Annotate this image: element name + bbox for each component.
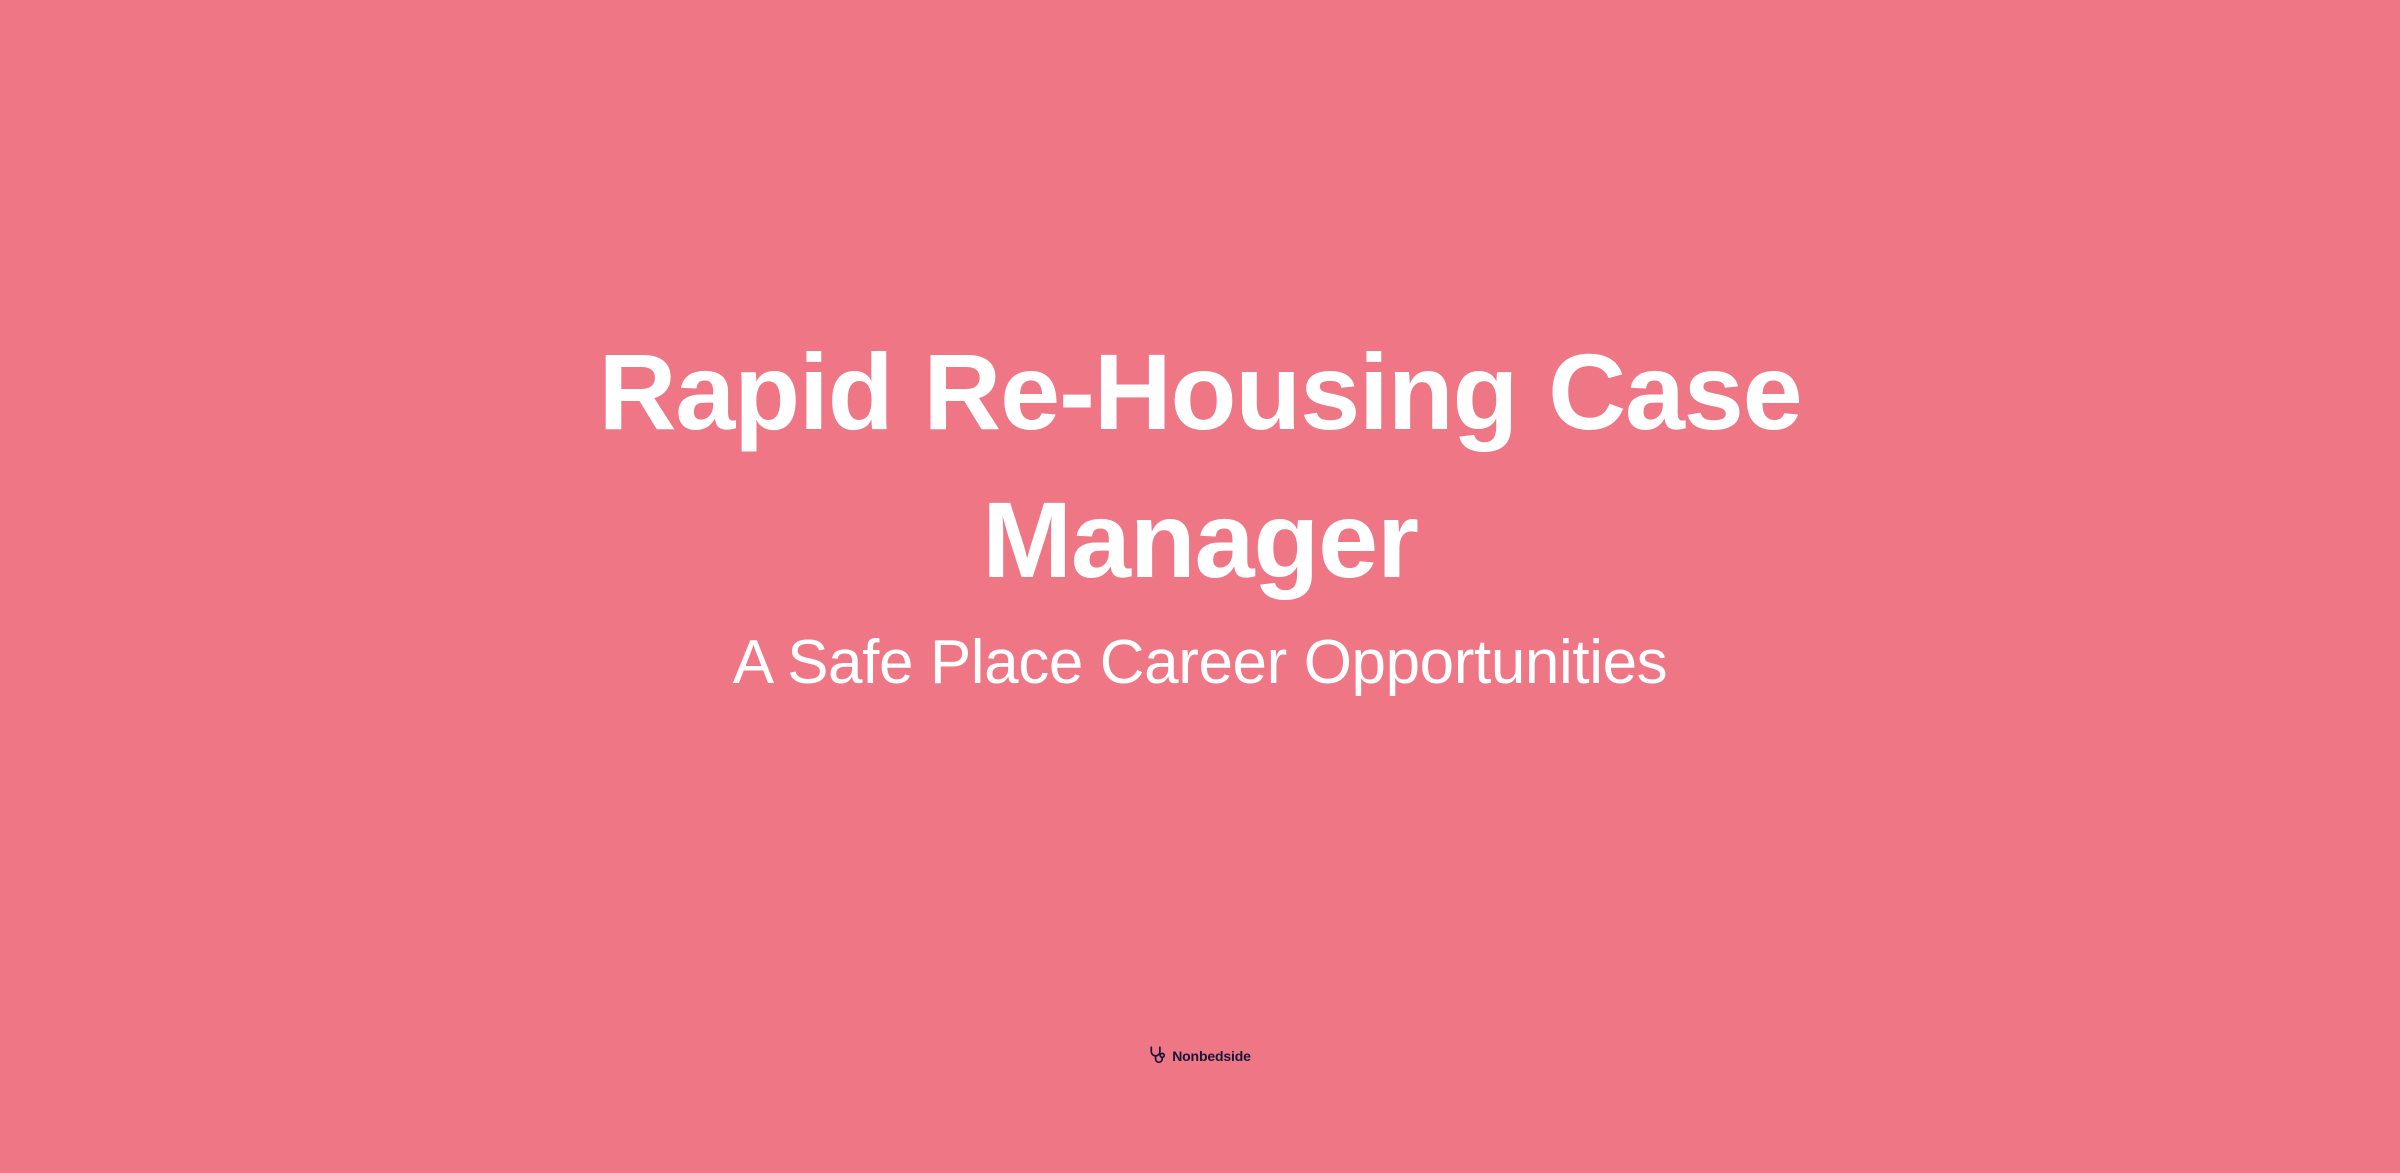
page-subtitle: A Safe Place Career Opportunities [545,614,1855,704]
brand-wordmark: Nonbedside [1172,1046,1251,1066]
hero-text-block: Rapid Re-Housing Case Manager A Safe Pla… [545,318,1855,704]
slide-canvas: Rapid Re-Housing Case Manager A Safe Pla… [0,0,2400,1173]
stethoscope-icon [1149,1046,1166,1066]
page-title: Rapid Re-Housing Case Manager [545,318,1855,614]
brand-lockup: Nonbedside [1149,1046,1251,1066]
